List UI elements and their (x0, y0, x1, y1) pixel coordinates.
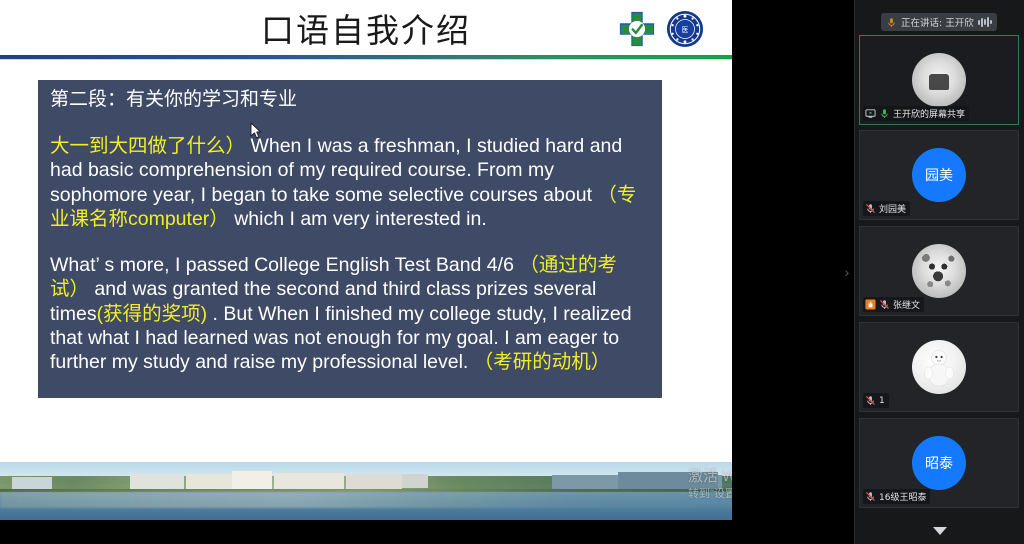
participant-label: 刘园美 (863, 201, 910, 216)
audio-wave-icon (978, 17, 992, 27)
university-seal-logo: 医 (666, 10, 704, 48)
microphone-muted-icon (865, 203, 876, 214)
participant-label: 1 (863, 393, 889, 408)
photo-building (346, 474, 402, 490)
avatar (912, 244, 966, 298)
participant-label: 16级王昭泰 (863, 489, 930, 504)
slide-paragraph-1: 大一到大四做了什么） When I was a freshman, I stud… (50, 134, 650, 231)
panel-collapse-arrow[interactable]: › (840, 262, 854, 282)
photo-building (12, 477, 52, 489)
microphone-muted-icon (865, 491, 876, 502)
screen-share-icon (865, 108, 876, 119)
avatar: 园美 (912, 148, 966, 202)
participant-name: 张继文 (893, 298, 920, 311)
shared-screen-area[interactable]: 口语自我介绍 (0, 0, 732, 544)
participant-name: 王开欣的屏幕共享 (893, 107, 965, 120)
paragraph-1-body-2: which I am very interested in. (229, 208, 487, 230)
slide-content-box: 第二段：有关你的学习和专业 大一到大四做了什么） When I was a fr… (38, 80, 662, 398)
title-divider-thin (0, 59, 732, 60)
participant-name: 16级王昭泰 (879, 490, 926, 503)
slide-heading: 第二段：有关你的学习和专业 (50, 88, 650, 112)
microphone-muted-icon (879, 299, 890, 310)
participant-label: 张继文 (863, 297, 924, 312)
participant-label: 王开欣的屏幕共享 (863, 106, 969, 121)
raise-hand-icon (865, 299, 876, 310)
avatar-image (921, 348, 957, 388)
campus-lake-photo (0, 462, 732, 520)
photo-building (130, 474, 184, 490)
avatar-image (917, 249, 961, 293)
paragraph-2-highlight-3: （考研的动机） (474, 351, 611, 373)
photo-building (402, 474, 428, 488)
microphone-icon (879, 108, 890, 119)
paragraph-1-paren-close: ） (226, 135, 246, 157)
microphone-muted-icon (865, 395, 876, 406)
avatar (912, 340, 966, 394)
active-speaker-banner: 正在讲话: 王开欣 (881, 13, 997, 31)
participant-name: 1 (879, 396, 885, 406)
participant-tile-zhangjiwen[interactable]: 张继文 (859, 226, 1019, 316)
active-speaker-label: 正在讲话: 王开欣 (901, 15, 974, 29)
participant-tile-screen-share[interactable]: 王开欣的屏幕共享 (859, 35, 1019, 125)
paragraph-2-body-1: What’ s more, I passed College English T… (50, 254, 519, 276)
slide-logos: 医 (618, 8, 714, 50)
paragraph-1-highlight-1: 大一到大四做了什么 (50, 135, 226, 157)
participant-tile-liuyuanmei[interactable]: 园美 刘园美 (859, 130, 1019, 220)
chevron-down-icon[interactable] (931, 524, 949, 538)
presentation-slide: 口语自我介绍 (0, 0, 732, 520)
participant-filmstrip: 正在讲话: 王开欣 王开欣的屏幕共享 (854, 0, 1024, 544)
participant-name: 刘园美 (879, 202, 906, 215)
avatar-figure (929, 74, 949, 90)
zoom-meeting-window: 口语自我介绍 (0, 0, 1024, 544)
svg-text:医: 医 (682, 26, 689, 34)
slide-title-bar: 口语自我介绍 (0, 0, 732, 57)
microphone-icon (886, 17, 897, 28)
avatar (912, 53, 966, 107)
paragraph-2-highlight-2: (获得的奖项) (97, 303, 208, 325)
avatar: 昭泰 (912, 436, 966, 490)
participant-tile-1[interactable]: 1 (859, 322, 1019, 412)
green-medical-cross-logo (618, 10, 656, 48)
participant-tile-wangzhaotai[interactable]: 昭泰 16级王昭泰 (859, 418, 1019, 508)
photo-water-reflection (0, 492, 732, 508)
slide-paragraph-2: What’ s more, I passed College English T… (50, 253, 650, 374)
